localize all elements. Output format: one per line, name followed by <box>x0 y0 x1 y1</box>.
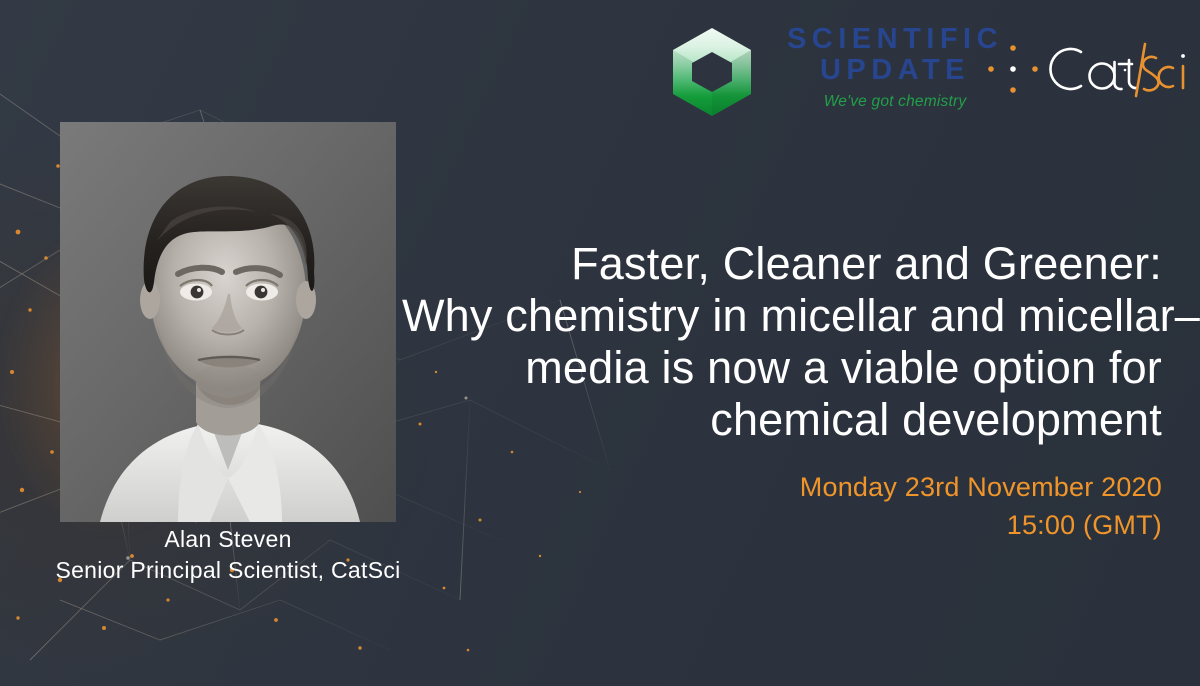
catsci-dots <box>988 45 1038 93</box>
webinar-title: Faster, Cleaner and Greener: Why chemist… <box>402 238 1162 446</box>
webinar-datetime: Monday 23rd November 2020 15:00 (GMT) <box>402 468 1162 544</box>
title-line-2: Why chemistry in micellar and micellar–l… <box>402 290 1162 342</box>
title-line-3: media is now a viable option for <box>402 342 1162 394</box>
webinar-title-block: Faster, Cleaner and Greener: Why chemist… <box>402 238 1162 544</box>
title-line-4: chemical development <box>402 394 1162 446</box>
webinar-slide: SCIENTIFIC UPDATE We've got chemistry <box>0 0 1200 686</box>
speaker-info: Alan Steven Senior Principal Scientist, … <box>20 524 436 586</box>
catsci-logo-icon <box>980 34 1190 104</box>
webinar-date: Monday 23rd November 2020 <box>402 468 1162 506</box>
speaker-role: Senior Principal Scientist, CatSci <box>20 554 436 586</box>
speaker-headshot <box>60 122 396 522</box>
speaker-name: Alan Steven <box>20 524 436 554</box>
scientific-update-hexagon-icon <box>668 26 756 118</box>
logo-row: SCIENTIFIC UPDATE We've got chemistry <box>660 18 1190 130</box>
webinar-time: 15:00 (GMT) <box>402 506 1162 544</box>
title-line-1: Faster, Cleaner and Greener: <box>402 238 1162 290</box>
